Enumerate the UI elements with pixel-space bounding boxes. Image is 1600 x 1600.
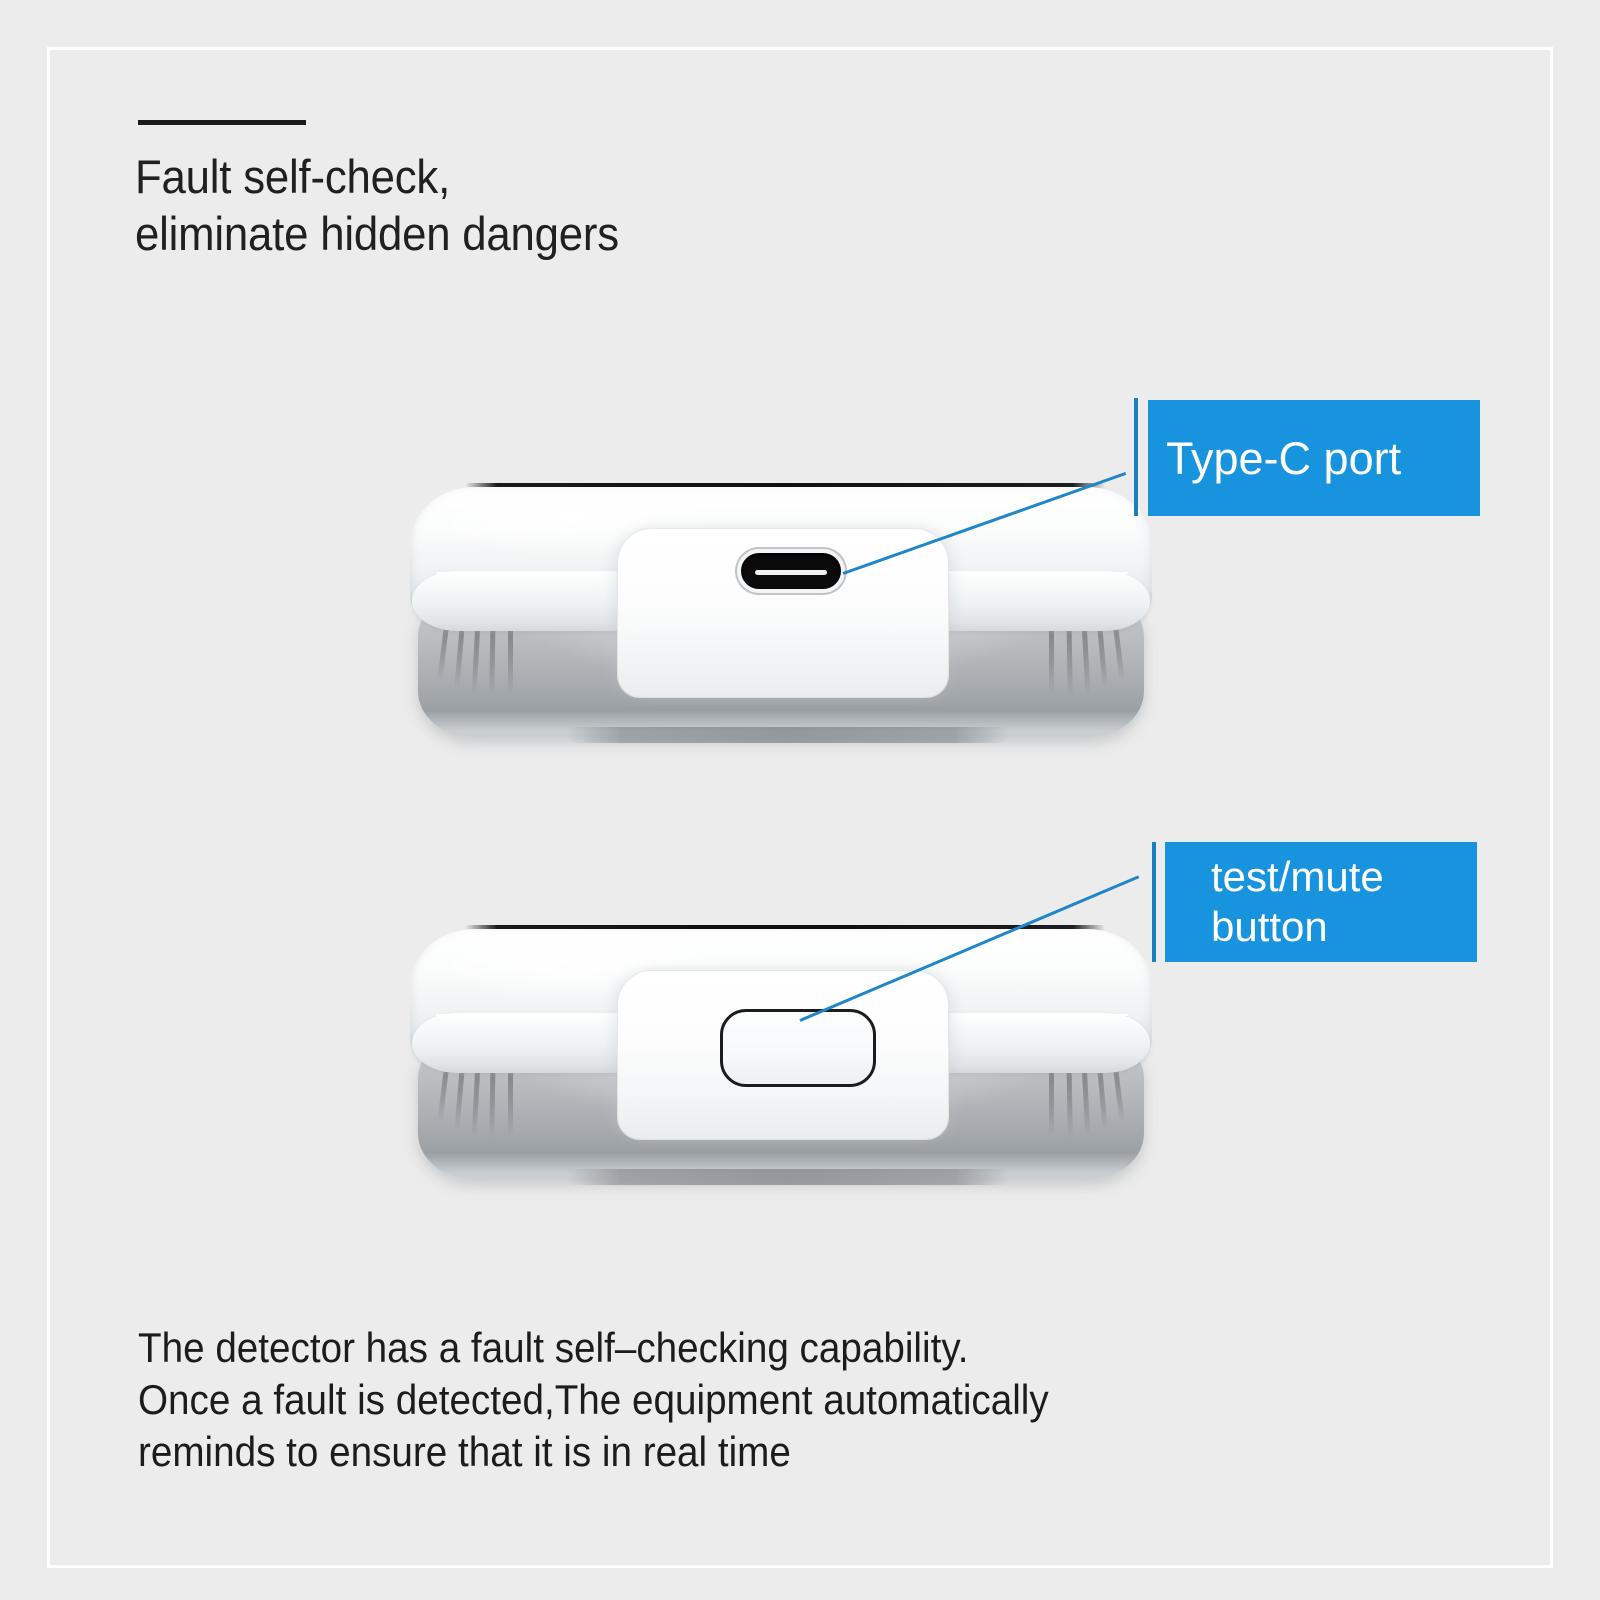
callout-test-mute-button: test/mute button	[1165, 842, 1477, 962]
infographic-stage: Fault self-check, eliminate hidden dange…	[0, 0, 1600, 1600]
device-contact-shadow	[568, 727, 1008, 743]
leader-connector-test-mute	[1152, 842, 1156, 962]
usb-type-c-port-icon	[737, 549, 845, 593]
callout-type-c-label: Type-C port	[1166, 432, 1401, 485]
callout-type-c-port: Type-C port	[1148, 400, 1480, 516]
leader-connector-type-c	[1134, 398, 1138, 516]
detector-device-button-view	[410, 925, 1152, 1177]
callout-test-mute-label: test/mute button	[1211, 852, 1384, 952]
heading-rule	[138, 120, 306, 125]
test-mute-button-icon	[720, 1009, 876, 1087]
page-title: Fault self-check, eliminate hidden dange…	[135, 148, 972, 262]
device-contact-shadow	[568, 1169, 1008, 1185]
description-paragraph: The detector has a fault self–checking c…	[138, 1322, 1260, 1478]
detector-device-type-c-view	[410, 483, 1152, 735]
port-slot	[755, 570, 827, 575]
